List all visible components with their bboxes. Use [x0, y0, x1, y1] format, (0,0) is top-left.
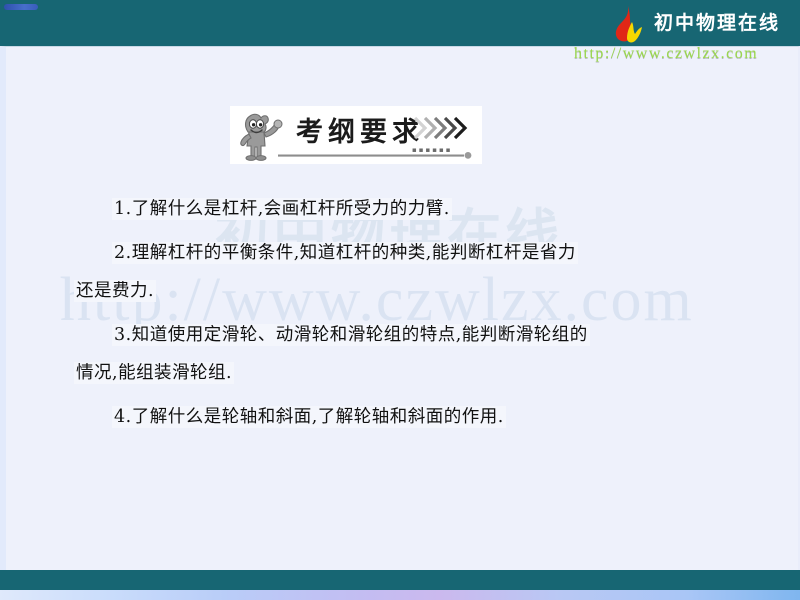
- list-item-text: 2.理解杠杆的平衡条件,知道杠杆的种类,能判断杠杆是省力: [112, 242, 578, 264]
- list-item-continuation: 情况,能组装滑轮组.: [0, 354, 234, 392]
- footer-gradient-ribbon: [0, 590, 800, 600]
- list-item: 4.了解什么是轮轴和斜面,了解轮轴和斜面的作用.: [0, 398, 506, 436]
- list-item-text: 1.了解什么是杠杆,会画杠杆所受力的力臂.: [112, 198, 452, 220]
- flame-logo-icon: [608, 4, 652, 44]
- list-item-continuation: 还是费力.: [0, 272, 156, 310]
- footer-banner: [0, 570, 800, 590]
- list-item-text: 情况,能组装滑轮组.: [74, 362, 234, 384]
- section-title-plaque: 考纲要求: [230, 106, 482, 164]
- chevron-dot-decoration: ▪▪▪▪▪▪: [412, 146, 452, 154]
- list-item: 3.知道使用定滑轮、动滑轮和滑轮组的特点,能判断滑轮组的: [0, 316, 590, 354]
- presentation-slide: 初中物理在线 http://www.czwlzx.com: [0, 0, 800, 600]
- list-item-text: 3.知道使用定滑轮、动滑轮和滑轮组的特点,能判断滑轮组的: [112, 324, 590, 346]
- list-item: 2.理解杠杆的平衡条件,知道杠杆的种类,能判断杠杆是省力: [0, 234, 578, 272]
- brand-name: 初中物理在线: [654, 8, 780, 35]
- header-accent-bar: [4, 4, 38, 10]
- page-title: 考纲要求: [296, 110, 424, 149]
- brand-url: http://www.czwlzx.com: [574, 45, 758, 63]
- list-item-text: 4.了解什么是轮轴和斜面,了解轮轴和斜面的作用.: [112, 406, 506, 428]
- list-item: 1.了解什么是杠杆,会画杠杆所受力的力臂.: [0, 190, 452, 228]
- list-item-text: 还是费力.: [74, 280, 156, 302]
- chevron-arrows-icon: [412, 114, 474, 142]
- header-banner: 初中物理在线: [0, 0, 800, 46]
